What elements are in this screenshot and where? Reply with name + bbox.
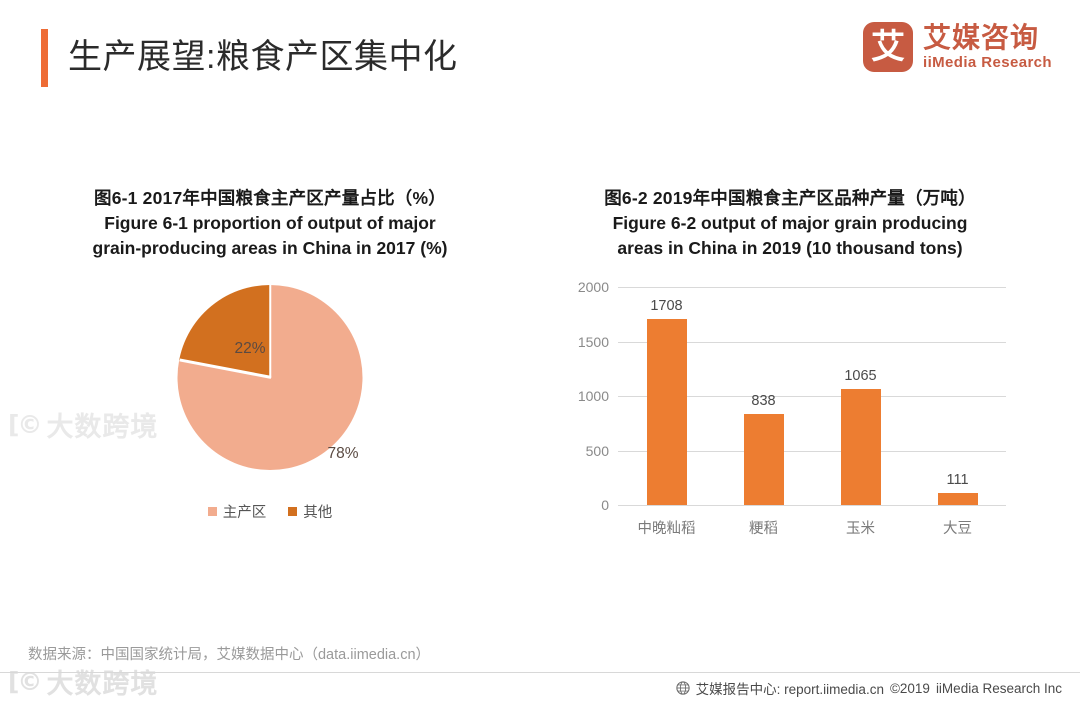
pie-chart-title-en-line2: grain-producing areas in China in 2017 (…: [30, 236, 510, 261]
y-axis-tick-label: 500: [586, 443, 609, 459]
y-axis-tick-label: 1500: [578, 334, 609, 350]
page-title: 生产展望:粮食产区集中化: [68, 31, 457, 83]
data-source-note: 数据来源：中国国家统计局，艾媒数据中心（data.iimedia.cn）: [28, 643, 430, 664]
bar-chart-plot: 2000150010005000 1708中晚籼稻838粳稻1065玉米111大…: [618, 287, 1006, 505]
page-header: 生产展望:粮食产区集中化 艾 艾媒咨询 iiMedia Research: [0, 0, 1080, 112]
bar-chart-title-en-line1: Figure 6-2 output of major grain produci…: [540, 211, 1040, 236]
legend-swatch-other-icon: [288, 507, 297, 516]
pie-chart-title-cn: 图6-1 2017年中国粮食主产区产量占比（%）: [30, 186, 510, 211]
brand-text: 艾媒咨询 iiMedia Research: [923, 22, 1052, 72]
copyright-year: ©2019: [890, 681, 930, 696]
legend-label-other: 其他: [303, 501, 332, 522]
report-center-link[interactable]: 艾媒报告中心: report.iimedia.cn: [696, 678, 884, 698]
bar-rect[interactable]: [647, 319, 687, 505]
bar-group: 1065玉米: [812, 287, 909, 505]
y-axis-tick-label: 1000: [578, 388, 609, 404]
company-name: iiMedia Research Inc: [936, 681, 1062, 696]
bar-rect[interactable]: [938, 493, 978, 505]
bar-group: 1708中晚籼稻: [618, 287, 715, 505]
x-axis-category-label: 中晚籼稻: [638, 517, 696, 538]
watermark-mark-icon: [©: [8, 667, 40, 696]
x-axis-category-label: 大豆: [943, 517, 972, 538]
bar-chart-title: 图6-2 2019年中国粮食主产区品种产量（万吨） Figure 6-2 out…: [540, 186, 1040, 261]
x-axis-category-label: 粳稻: [749, 517, 778, 538]
legend-item-major: 主产区: [208, 501, 267, 522]
pie-chart-title: 图6-1 2017年中国粮食主产区产量占比（%） Figure 6-1 prop…: [30, 186, 510, 261]
watermark-middle: [© 大数跨境: [8, 405, 158, 444]
pie-legend: 主产区 其他: [30, 501, 510, 522]
pie-chart-graphic: 78% 22%: [178, 285, 363, 470]
footer-divider: [0, 672, 1080, 673]
pie-chart-title-en-line1: Figure 6-1 proportion of output of major: [30, 211, 510, 236]
bar-chart-bars: 1708中晚籼稻838粳稻1065玉米111大豆: [618, 287, 1006, 505]
iimedia-logo-icon: 艾: [863, 22, 913, 72]
bar-chart-title-cn: 图6-2 2019年中国粮食主产区品种产量（万吨）: [540, 186, 1040, 211]
brand-name-en: iiMedia Research: [923, 53, 1052, 72]
bar-value-label: 838: [751, 393, 775, 409]
bar-group: 838粳稻: [715, 287, 812, 505]
bar-rect[interactable]: [841, 389, 881, 505]
footer-bar: 艾媒报告中心: report.iimedia.cn ©2019 iiMedia …: [676, 678, 1062, 698]
pie-chart-area: 78% 22% 主产区 其他: [30, 279, 510, 529]
bar-chart-title-en-line2: areas in China in 2019 (10 thousand tons…: [540, 236, 1040, 261]
watermark-bottom: [© 大数跨境: [8, 662, 158, 701]
pie-slice-label-major: 78%: [328, 445, 359, 463]
watermark-text: 大数跨境: [46, 662, 158, 701]
legend-swatch-major-icon: [208, 507, 217, 516]
pie-slice-divider: [179, 359, 270, 379]
bar-rect[interactable]: [744, 414, 784, 505]
pie-slice-divider: [269, 285, 272, 378]
globe-icon: [676, 681, 690, 695]
pie-chart-panel: 图6-1 2017年中国粮食主产区产量占比（%） Figure 6-1 prop…: [30, 186, 510, 556]
bar-chart-panel: 图6-2 2019年中国粮食主产区品种产量（万吨） Figure 6-2 out…: [540, 186, 1040, 556]
watermark-mark-icon: [©: [8, 410, 40, 439]
y-axis-tick-label: 0: [601, 497, 609, 513]
x-axis-category-label: 玉米: [846, 517, 875, 538]
bar-value-label: 1708: [650, 298, 682, 314]
brand-logo: 艾 艾媒咨询 iiMedia Research: [863, 22, 1052, 72]
bar-value-label: 1065: [844, 368, 876, 384]
bar-chart-area: 2000150010005000 1708中晚籼稻838粳稻1065玉米111大…: [540, 277, 1040, 547]
bar-group: 111大豆: [909, 287, 1006, 505]
bar-value-label: 111: [946, 472, 968, 488]
legend-label-major: 主产区: [223, 501, 267, 522]
brand-name-cn: 艾媒咨询: [923, 22, 1052, 53]
legend-item-other: 其他: [288, 501, 332, 522]
y-axis-tick-label: 2000: [578, 279, 609, 295]
pie-slice-label-other: 22%: [235, 340, 266, 358]
watermark-text: 大数跨境: [46, 405, 158, 444]
title-accent-bar: [41, 29, 48, 87]
gridline: 0: [618, 505, 1006, 506]
